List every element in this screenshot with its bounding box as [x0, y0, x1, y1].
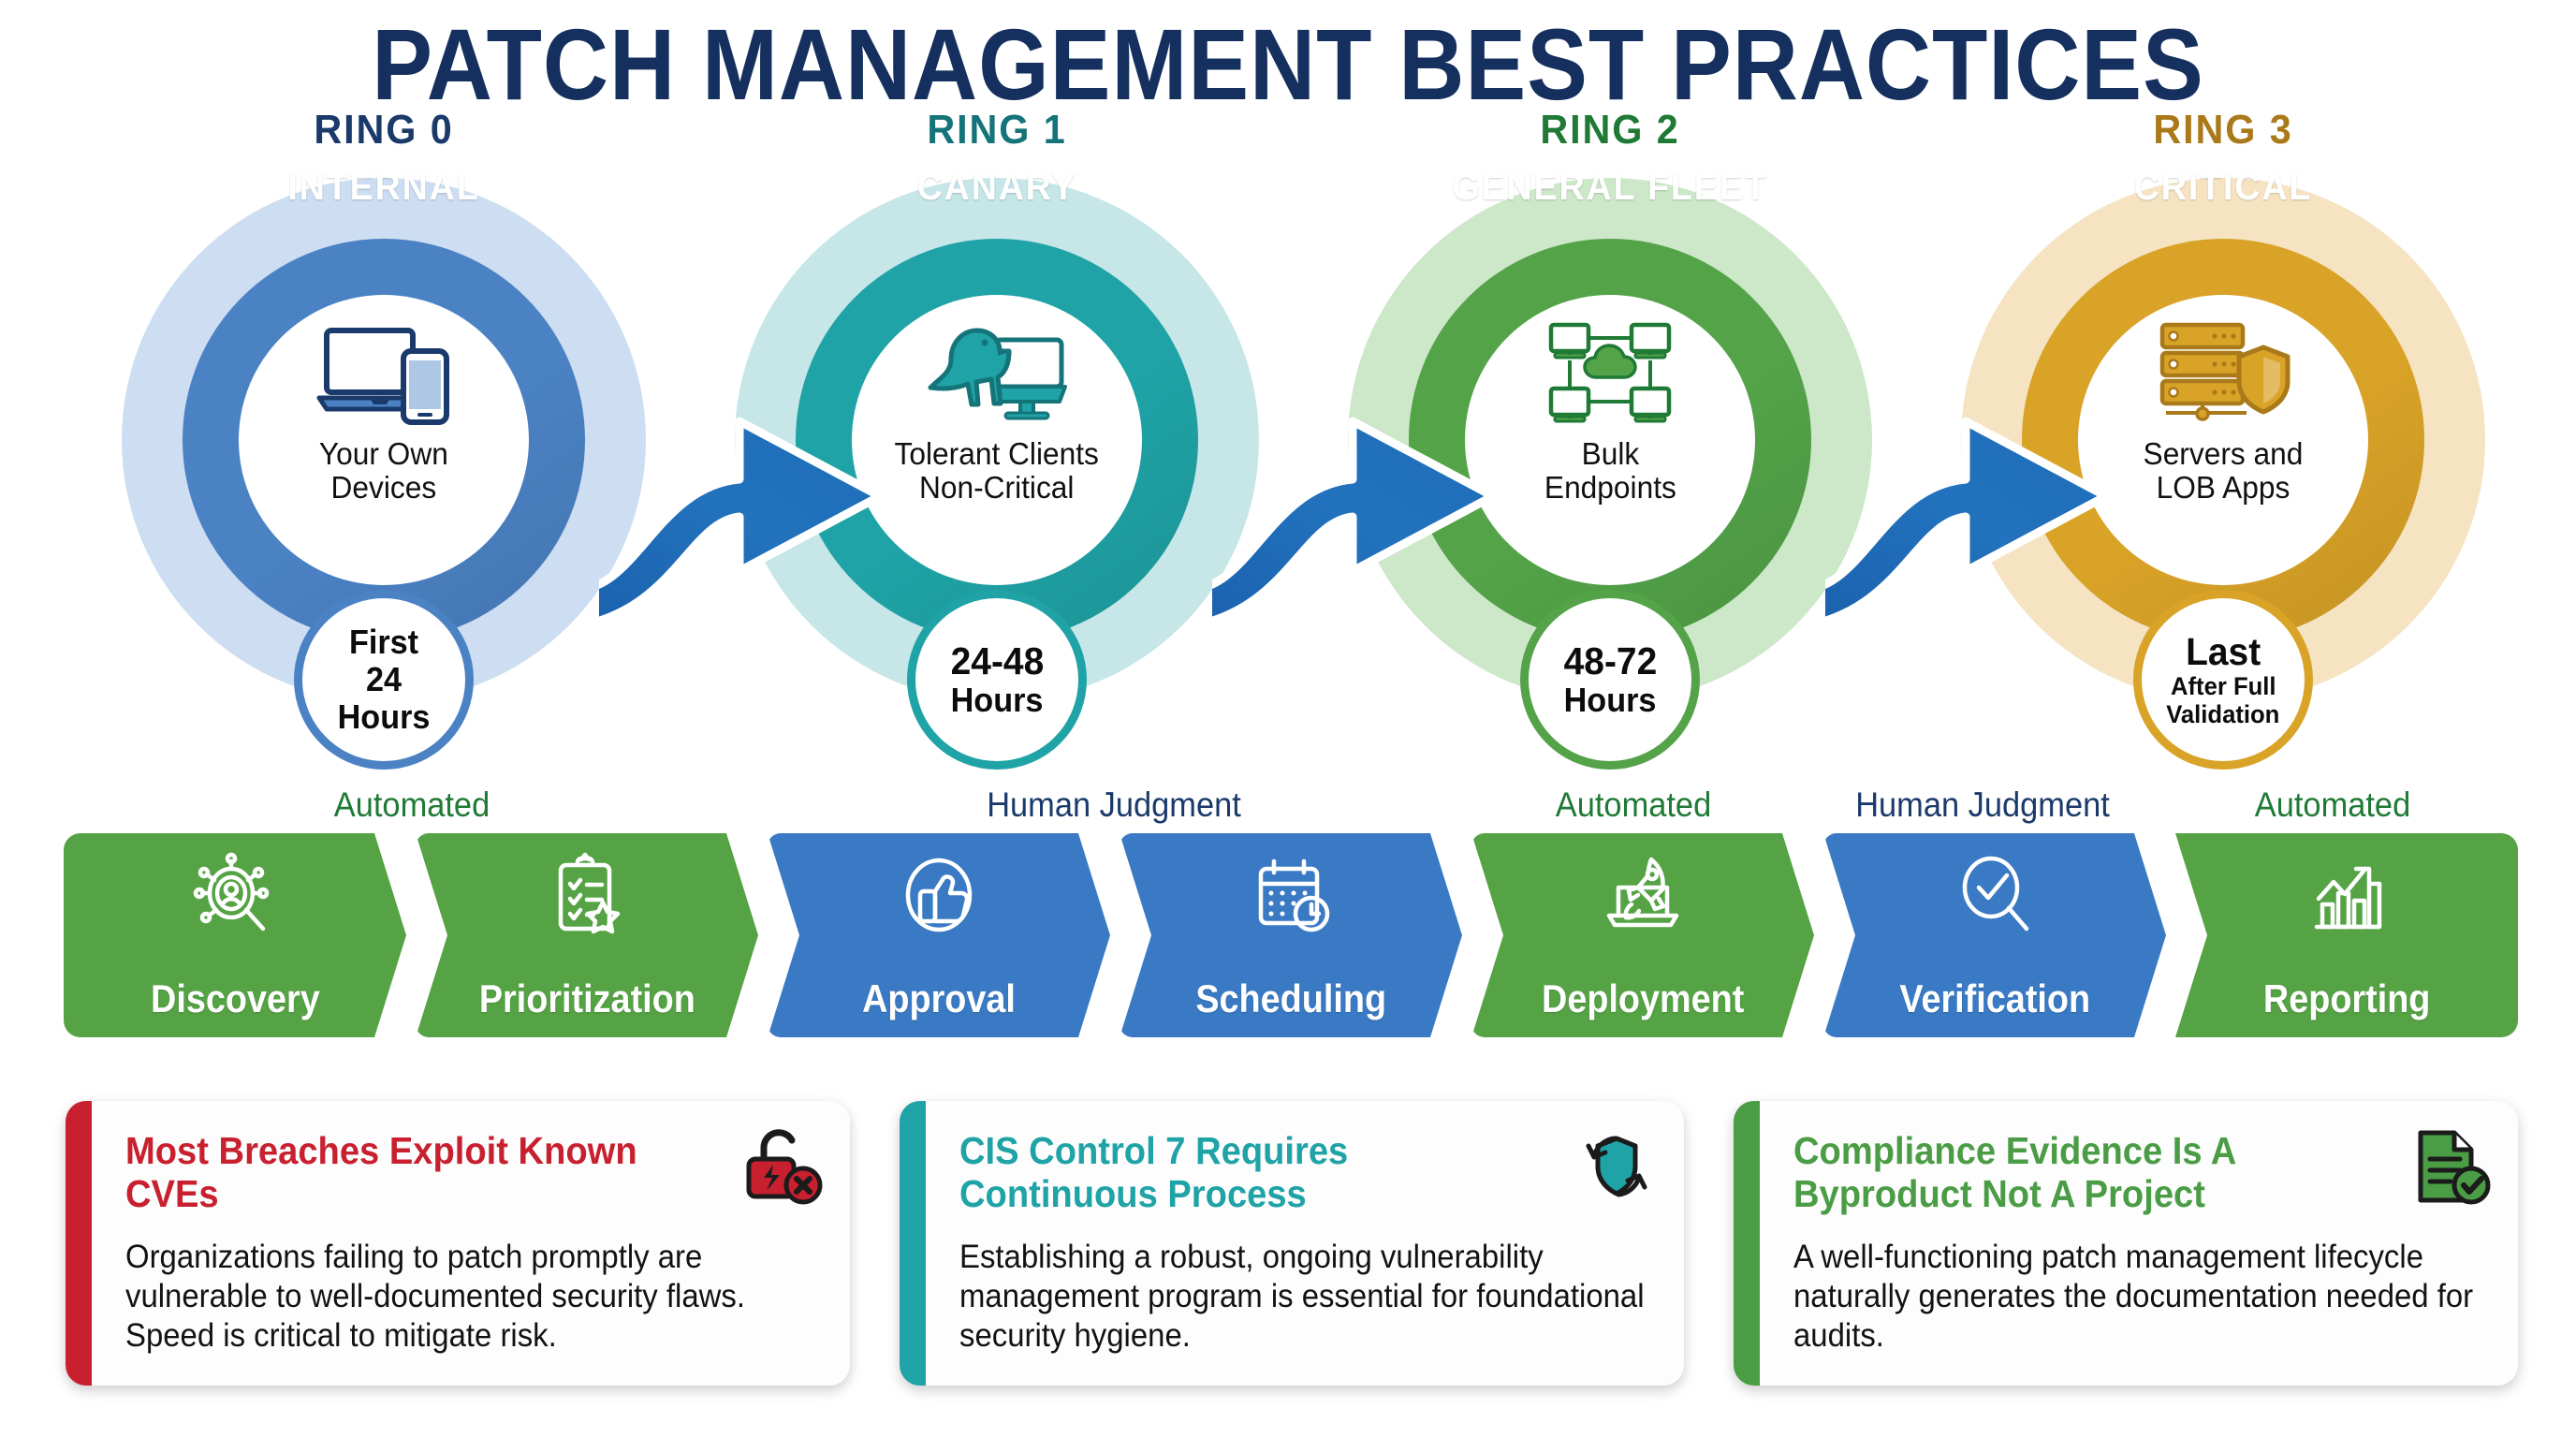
bar-chart-trend-icon [2304, 852, 2390, 938]
process-label-human: Human Judgment [922, 785, 1305, 826]
process-step-prioritization[interactable]: Prioritization [416, 833, 758, 1037]
insight-card-1[interactable]: CIS Control 7 Requires Continuous Proces… [900, 1101, 1684, 1386]
calendar-clock-icon [1248, 852, 1334, 938]
insight-cards-row: Most Breaches Exploit Known CVEsOrganiza… [66, 1101, 2518, 1401]
badge-line-1: 48-72 [1563, 640, 1657, 682]
process-step-deployment[interactable]: Deployment [1471, 833, 1814, 1037]
process-step-label: Prioritization [478, 977, 695, 1020]
ring-desc-line1: Your Own [319, 436, 448, 471]
process-step-label: Reporting [2263, 977, 2430, 1020]
badge-line-3: Hours [338, 698, 431, 736]
shield-refresh-icon [1573, 1123, 1660, 1210]
ring-number: RING 1 [741, 107, 1251, 154]
ring-number: RING 0 [128, 107, 638, 154]
card-content: Most Breaches Exploit Known CVEsOrganiza… [92, 1101, 850, 1386]
ring-0-card[interactable]: Your OwnDevicesRING 0INTERNALFirst24Hour… [112, 159, 655, 721]
badge-line-2: After Full [2171, 672, 2276, 700]
badge-line-2: 24 [366, 661, 402, 698]
ring-name: CANARY [741, 167, 1251, 209]
process-step-discovery[interactable]: Discovery [64, 833, 406, 1037]
clipboard-checklist-star-icon [544, 852, 630, 938]
network-endpoints-cloud-icon [1540, 319, 1680, 428]
server-shield-icon [2153, 319, 2293, 428]
process-label-human: Human Judgment [1791, 785, 2173, 826]
ring-desc-line1: Servers and [2144, 436, 2304, 471]
card-accent-bar [900, 1101, 926, 1386]
ring-desc-line2: Endpoints [1544, 470, 1676, 505]
card-body-text: A well-functioning patch management life… [1793, 1238, 2490, 1356]
thumbs-up-circle-icon [896, 852, 982, 938]
ring-timing-badge: LastAfter FullValidation [2133, 590, 2313, 770]
ring-name: CRITICAL [1968, 167, 2478, 209]
process-step-label: Deployment [1542, 977, 1744, 1020]
process-step-approval[interactable]: Approval [768, 833, 1110, 1037]
card-body-text: Organizations failing to patch promptly … [125, 1238, 822, 1356]
ring-desc-line2: LOB Apps [2157, 470, 2291, 505]
ring-arrow-0 [599, 309, 927, 618]
page-title: PATCH MANAGEMENT BEST PRACTICES [129, 13, 2448, 116]
ring-description: BulkEndpoints [1544, 437, 1676, 505]
ring-arrow-2 [1825, 309, 2153, 618]
ring-number: RING 3 [1968, 107, 2478, 154]
process-step-reporting[interactable]: Reporting [2175, 833, 2518, 1037]
card-heading: Compliance Evidence Is A Byproduct Not A… [1793, 1129, 2489, 1215]
process-step-label: Scheduling [1195, 977, 1386, 1020]
card-body-text: Establishing a robust, ongoing vulnerabi… [959, 1238, 1656, 1356]
network-scan-magnifier-icon [192, 852, 278, 938]
badge-line-2: Hours [951, 682, 1044, 719]
process-step-label: Discovery [151, 977, 320, 1020]
badge-line-1: 24-48 [950, 640, 1044, 682]
laptop-phone-icon [314, 319, 454, 428]
card-accent-bar [66, 1101, 92, 1386]
ring-timing-badge: 24-48Hours [907, 590, 1087, 770]
ring-description: Your OwnDevices [319, 437, 448, 505]
magnifier-check-icon [1952, 852, 2038, 938]
ring-name: INTERNAL [128, 167, 638, 209]
ring-core: Your OwnDevices [239, 295, 529, 585]
document-check-icon [2408, 1123, 2494, 1210]
broken-padlock-x-icon [739, 1123, 826, 1210]
ring-timing-badge: First24Hours [294, 590, 474, 770]
ring-desc-line2: Non-Critical [919, 470, 1074, 505]
badge-line-1: Last [2186, 631, 2261, 672]
badge-line-2: Hours [1564, 682, 1657, 719]
process-label-automated: Automated [2141, 785, 2524, 826]
badge-line-1: First [349, 624, 418, 661]
process-category-labels: AutomatedHuman JudgmentAutomatedHuman Ju… [0, 785, 2576, 833]
ring-timing-badge: 48-72Hours [1520, 590, 1700, 770]
card-content: Compliance Evidence Is A Byproduct Not A… [1760, 1101, 2518, 1386]
process-step-verification[interactable]: Verification [1823, 833, 2166, 1037]
infographic-canvas: PATCH MANAGEMENT BEST PRACTICES Your Own… [0, 0, 2576, 1438]
card-accent-bar [1734, 1101, 1760, 1386]
ring-number: RING 2 [1354, 107, 1865, 154]
process-chevron-strip: Discovery Prioritization Approval Schedu… [64, 833, 2518, 1037]
ring-arrow-1 [1212, 309, 1540, 618]
process-step-label: Verification [1899, 977, 2090, 1020]
card-heading: Most Breaches Exploit Known CVEs [125, 1129, 821, 1215]
process-label-automated: Automated [1442, 785, 1824, 826]
insight-card-2[interactable]: Compliance Evidence Is A Byproduct Not A… [1734, 1101, 2518, 1386]
ring-desc-line1: Bulk [1581, 436, 1639, 471]
process-step-label: Approval [862, 977, 1016, 1020]
ring-description: Servers andLOB Apps [2144, 437, 2304, 505]
card-content: CIS Control 7 Requires Continuous Proces… [926, 1101, 1684, 1386]
ring-name: GENERAL FLEET [1354, 167, 1865, 209]
canary-bird-monitor-icon [927, 319, 1067, 428]
badge-line-3: Validation [2166, 700, 2279, 728]
card-heading: CIS Control 7 Requires Continuous Proces… [959, 1129, 1655, 1215]
rocket-laptop-icon [1600, 852, 1686, 938]
insight-card-0[interactable]: Most Breaches Exploit Known CVEsOrganiza… [66, 1101, 850, 1386]
process-label-automated: Automated [220, 785, 603, 826]
process-step-scheduling[interactable]: Scheduling [1120, 833, 1462, 1037]
ring-desc-line2: Devices [331, 470, 437, 505]
